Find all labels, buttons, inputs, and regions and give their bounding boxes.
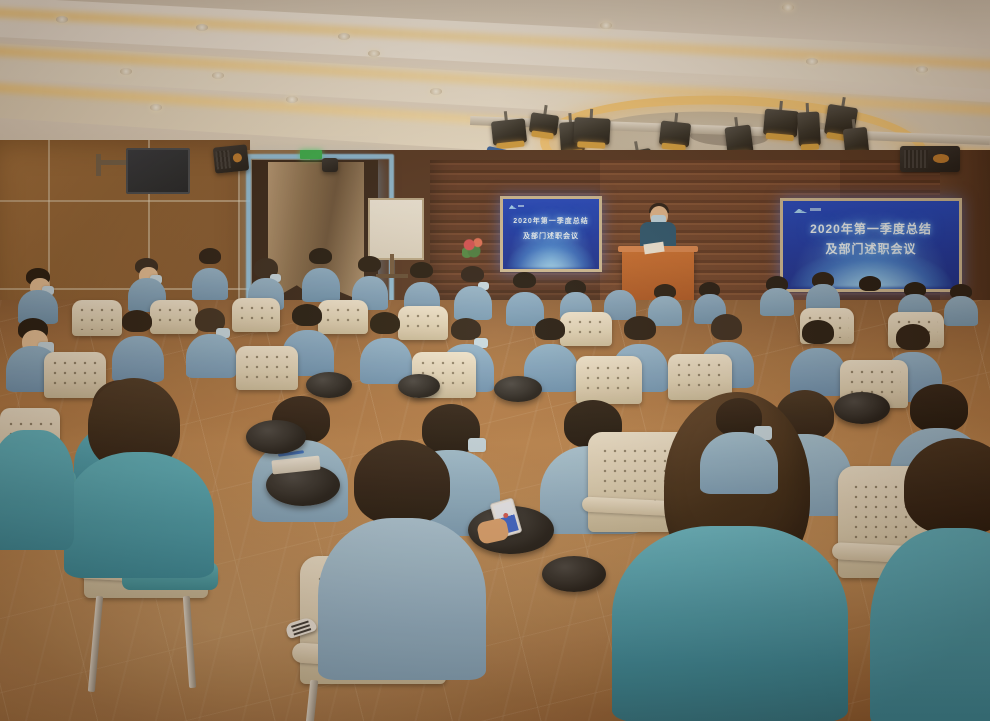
downlight-icon <box>196 24 208 31</box>
downlight-icon <box>368 50 380 57</box>
stage-light-icon <box>529 112 560 136</box>
attendee <box>854 276 886 316</box>
flipchart-easel <box>368 198 424 260</box>
attendee-foreground-center-left <box>318 440 486 680</box>
flower-arrangement <box>462 236 486 258</box>
cork-panel-seam <box>0 200 250 202</box>
chair-tablet-arm[interactable] <box>834 392 890 424</box>
attendee-masked <box>18 268 58 324</box>
downlight-icon <box>286 96 298 103</box>
slide-logo <box>509 203 524 211</box>
downlight-icon <box>150 104 162 111</box>
stage-light-icon <box>659 120 691 147</box>
attendee <box>944 284 978 326</box>
downlight-icon <box>782 4 794 11</box>
downlight-icon <box>56 16 68 23</box>
stage-light-icon <box>797 111 821 146</box>
wall-mounted-monitor <box>126 148 190 194</box>
attendee <box>192 248 228 300</box>
downlight-icon <box>212 72 224 79</box>
flipchart-leg <box>390 254 394 276</box>
loudspeaker-small <box>322 158 338 172</box>
exit-sign <box>300 150 322 159</box>
chair-tablet-arm[interactable] <box>306 372 352 398</box>
chair-tablet-arm[interactable] <box>246 420 306 454</box>
downlight-icon <box>916 66 928 73</box>
left-screen-line1: 2020年第一季度总结 <box>503 216 599 226</box>
downlight-icon <box>120 68 132 75</box>
attendee <box>790 320 846 396</box>
attendee <box>760 276 794 316</box>
attendee-foreground-left <box>64 378 214 578</box>
left-projection-screen: 2020年第一季度总结 及部门述职会议 <box>500 196 602 272</box>
downlight-icon <box>430 88 442 95</box>
tv-wall-mount-post <box>96 154 101 176</box>
attendee <box>112 310 164 382</box>
loudspeaker-right <box>900 146 960 172</box>
loudspeaker-left <box>213 144 250 173</box>
downlight-icon <box>600 22 612 29</box>
chair-tablet-arm[interactable] <box>542 556 606 592</box>
attendee-foreground-edge <box>0 430 74 550</box>
attendee <box>360 312 412 384</box>
chair-tablet-arm[interactable] <box>494 376 542 402</box>
attendee-masked <box>454 266 492 320</box>
stage-light-icon <box>491 118 527 145</box>
attendee-foreground-right <box>870 438 990 721</box>
chair-tablet-arm[interactable] <box>398 374 440 398</box>
chair-back[interactable] <box>232 298 280 332</box>
chair-back[interactable] <box>236 346 298 390</box>
stage-light-icon <box>573 117 610 145</box>
downlight-icon <box>338 33 350 40</box>
meeting-room-photo: 2020年第一季度总结 及部门述职会议 2020年第一季度总结 及部门述职会议 <box>0 0 990 721</box>
stage-light-icon <box>763 109 799 138</box>
right-screen-line1: 2020年第一季度总结 <box>783 220 959 237</box>
slide-logo <box>794 206 822 217</box>
attendee <box>302 248 340 302</box>
downlight-icon <box>806 58 818 65</box>
slide-globe-graphic <box>507 238 595 267</box>
attendee-masked <box>700 398 778 494</box>
attendee-masked <box>186 308 236 378</box>
